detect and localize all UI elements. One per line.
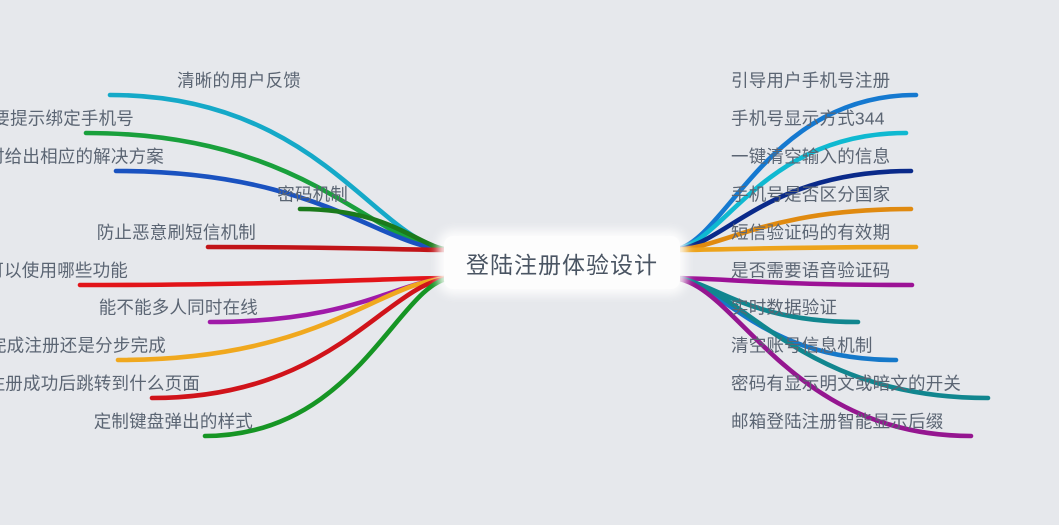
branch-label-right-3[interactable]: 一键清空输入的信息 <box>731 149 890 167</box>
branch-label-left-7[interactable]: 能不能多人同时在线 <box>99 300 258 318</box>
branch-label-left-2[interactable]: 第三方登陆后要不要提示绑定手机号 <box>0 111 134 129</box>
branch-label-right-4[interactable]: 手机号是否区分国家 <box>731 187 890 205</box>
central-topic-label: 登陆注册体验设计 <box>466 246 658 280</box>
branch-label-right-2[interactable]: 手机号显示方式344 <box>731 111 885 129</box>
branch-label-left-8[interactable]: 一个页面完成注册还是分步完成 <box>0 338 166 356</box>
branch-label-left-9[interactable]: 注册成功后跳转到什么页面 <box>0 376 200 394</box>
mindmap-canvas: 清晰的用户反馈第三方登陆后要不要提示绑定手机号错误提示时给出相应的解决方案密码机… <box>0 0 1059 525</box>
branch-label-right-7[interactable]: 实时数据验证 <box>731 300 837 318</box>
branch-curve-right-5[interactable] <box>672 247 916 250</box>
branch-label-left-10[interactable]: 定制键盘弹出的样式 <box>94 414 253 432</box>
branch-label-right-10[interactable]: 邮箱登陆注册智能显示后缀 <box>731 414 943 432</box>
branch-label-right-1[interactable]: 引导用户手机号注册 <box>731 73 890 91</box>
branch-label-left-5[interactable]: 防止恶意刷短信机制 <box>97 225 256 243</box>
branch-curve-left-6[interactable] <box>80 278 452 285</box>
branch-label-left-6[interactable]: 登陆和不登录用户可以使用哪些功能 <box>0 263 128 281</box>
branch-label-left-1[interactable]: 清晰的用户反馈 <box>177 73 301 91</box>
branch-label-left-4[interactable]: 密码机制 <box>277 187 348 205</box>
branch-label-right-6[interactable]: 是否需要语音验证码 <box>731 263 890 281</box>
branch-label-left-3[interactable]: 错误提示时给出相应的解决方案 <box>0 149 164 167</box>
branch-label-right-5[interactable]: 短信验证码的有效期 <box>731 225 890 243</box>
branch-label-right-8[interactable]: 清空账号信息机制 <box>731 338 873 356</box>
central-topic-node[interactable]: 登陆注册体验设计 <box>444 236 680 289</box>
branch-curve-left-5[interactable] <box>208 247 452 250</box>
branch-label-right-9[interactable]: 密码有显示明文或暗文的开关 <box>731 376 961 394</box>
